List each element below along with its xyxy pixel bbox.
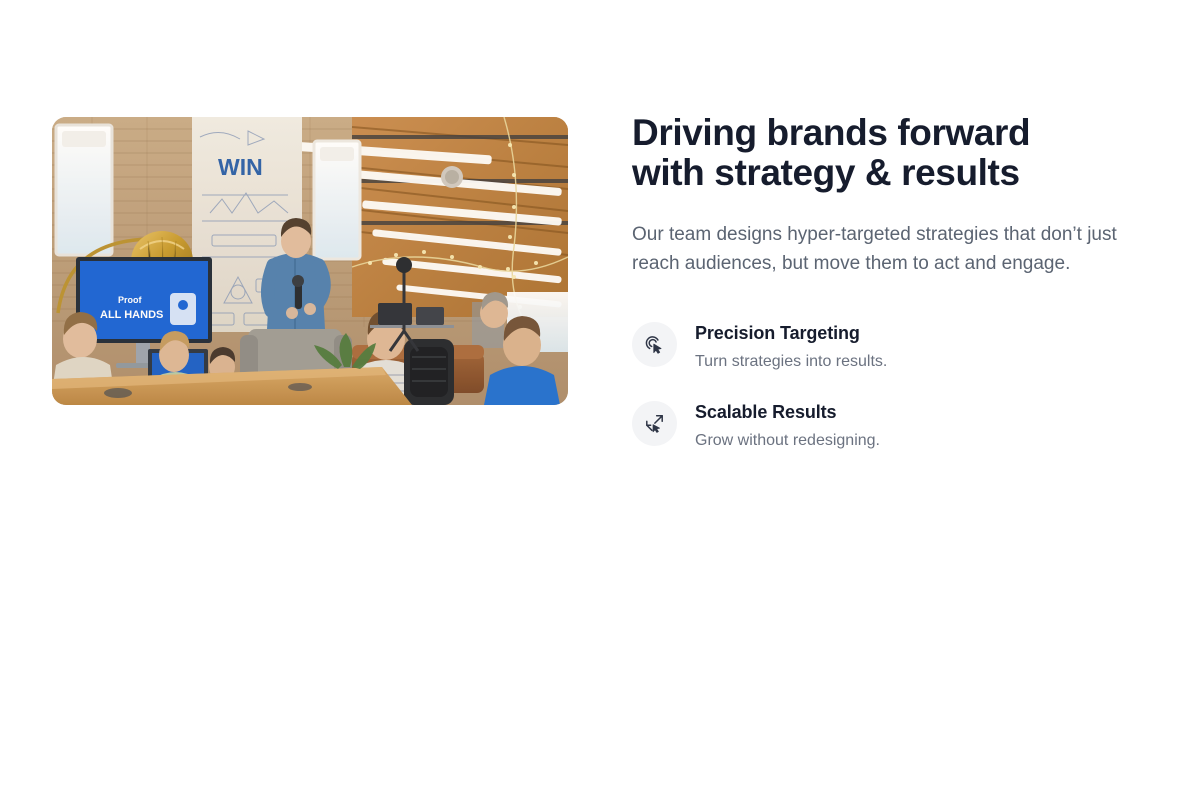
hero-media-column: WIN xyxy=(52,117,568,405)
feature-item-precision-targeting: Precision Targeting Turn strategies into… xyxy=(632,321,1152,372)
feature-icon-badge xyxy=(632,401,677,446)
expand-arrows-icon xyxy=(644,413,665,434)
feature-title: Scalable Results xyxy=(695,401,880,424)
hero-subheadline: Our team designs hyper-targeted strategi… xyxy=(632,220,1148,278)
hero-photo: WIN xyxy=(52,117,568,405)
hero-section: WIN xyxy=(0,0,1200,800)
cursor-click-icon xyxy=(644,334,665,355)
feature-icon-badge xyxy=(632,322,677,367)
hero-content-column: Driving brands forward with strategy & r… xyxy=(632,113,1152,451)
feature-description: Grow without redesigning. xyxy=(695,431,880,451)
feature-text-block: Scalable Results Grow without redesignin… xyxy=(695,400,880,451)
feature-title: Precision Targeting xyxy=(695,322,887,345)
page-title: Driving brands forward with strategy & r… xyxy=(632,113,1152,193)
feature-description: Turn strategies into results. xyxy=(695,352,887,372)
feature-list: Precision Targeting Turn strategies into… xyxy=(632,321,1152,451)
feature-text-block: Precision Targeting Turn strategies into… xyxy=(695,321,887,372)
office-allhands-illustration: WIN xyxy=(52,117,568,405)
feature-item-scalable-results: Scalable Results Grow without redesignin… xyxy=(632,400,1152,451)
